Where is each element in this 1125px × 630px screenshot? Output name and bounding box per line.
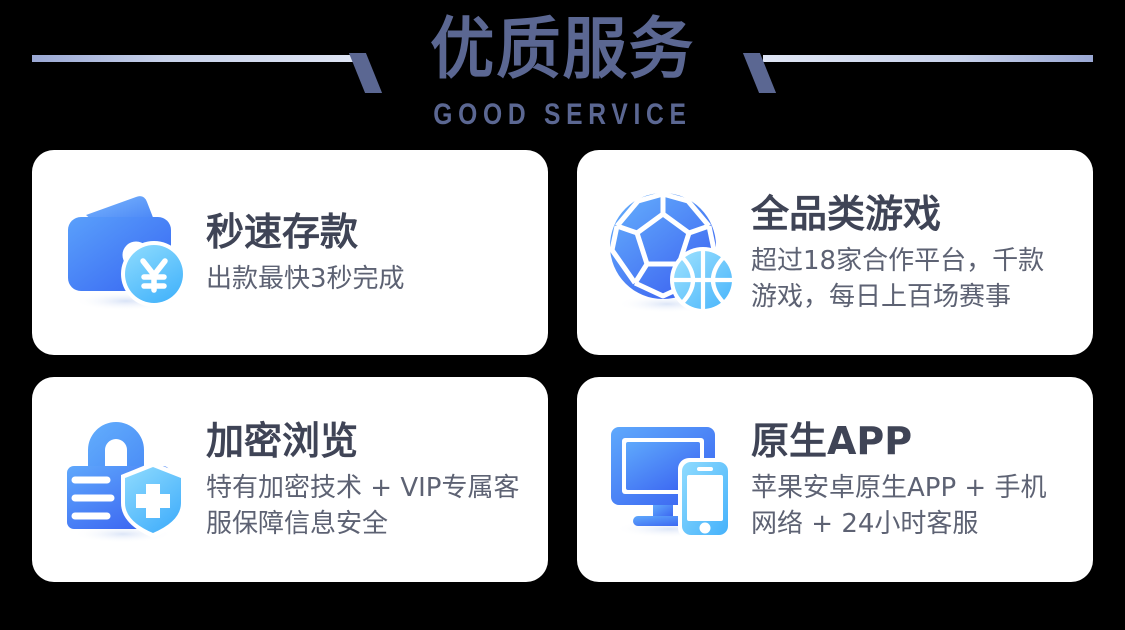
lock-shield-icon bbox=[58, 410, 198, 550]
feature-card-grid: 秒速存款 出款最快3秒完成 bbox=[32, 150, 1093, 582]
card-description-line-2: 游戏，每日上百场赛事 bbox=[751, 279, 1077, 315]
feature-card-deposit[interactable]: 秒速存款 出款最快3秒完成 bbox=[32, 150, 548, 355]
soccer-basketball-icon bbox=[603, 183, 743, 323]
page-title: 优质服务 bbox=[23, 8, 1103, 90]
wallet-yen-icon bbox=[58, 183, 198, 323]
card-title: 秒速存款 bbox=[206, 209, 532, 255]
monitor-phone-icon bbox=[603, 410, 743, 550]
card-description: 出款最快3秒完成 bbox=[206, 261, 532, 297]
card-text-block: 全品类游戏 超过18家合作平台，千款 游戏，每日上百场赛事 bbox=[743, 191, 1077, 315]
card-title: 全品类游戏 bbox=[751, 191, 1077, 237]
page-header: 优质服务 GOOD SERVICE bbox=[0, 0, 1125, 148]
card-title: 加密浏览 bbox=[206, 418, 532, 464]
feature-card-encryption[interactable]: 加密浏览 特有加密技术 + VIP专属客 服保障信息安全 bbox=[32, 377, 548, 582]
card-text-block: 加密浏览 特有加密技术 + VIP专属客 服保障信息安全 bbox=[198, 418, 532, 542]
feature-card-native-app[interactable]: 原生APP 苹果安卓原生APP + 手机 网络 + 24小时客服 bbox=[577, 377, 1093, 582]
card-description-line-2: 服保障信息安全 bbox=[206, 506, 532, 542]
card-text-block: 原生APP 苹果安卓原生APP + 手机 网络 + 24小时客服 bbox=[743, 418, 1077, 542]
card-description-line-1: 特有加密技术 + VIP专属客 bbox=[206, 470, 532, 506]
page-root: 优质服务 GOOD SERVICE bbox=[0, 0, 1125, 630]
page-subtitle: GOOD SERVICE bbox=[101, 98, 1024, 132]
card-description-line-1: 超过18家合作平台，千款 bbox=[751, 243, 1077, 279]
feature-card-games[interactable]: 全品类游戏 超过18家合作平台，千款 游戏，每日上百场赛事 bbox=[577, 150, 1093, 355]
card-text-block: 秒速存款 出款最快3秒完成 bbox=[198, 209, 532, 297]
card-title: 原生APP bbox=[751, 418, 1077, 464]
card-description-line-2: 网络 + 24小时客服 bbox=[751, 506, 1077, 542]
card-description-line-1: 苹果安卓原生APP + 手机 bbox=[751, 470, 1077, 506]
